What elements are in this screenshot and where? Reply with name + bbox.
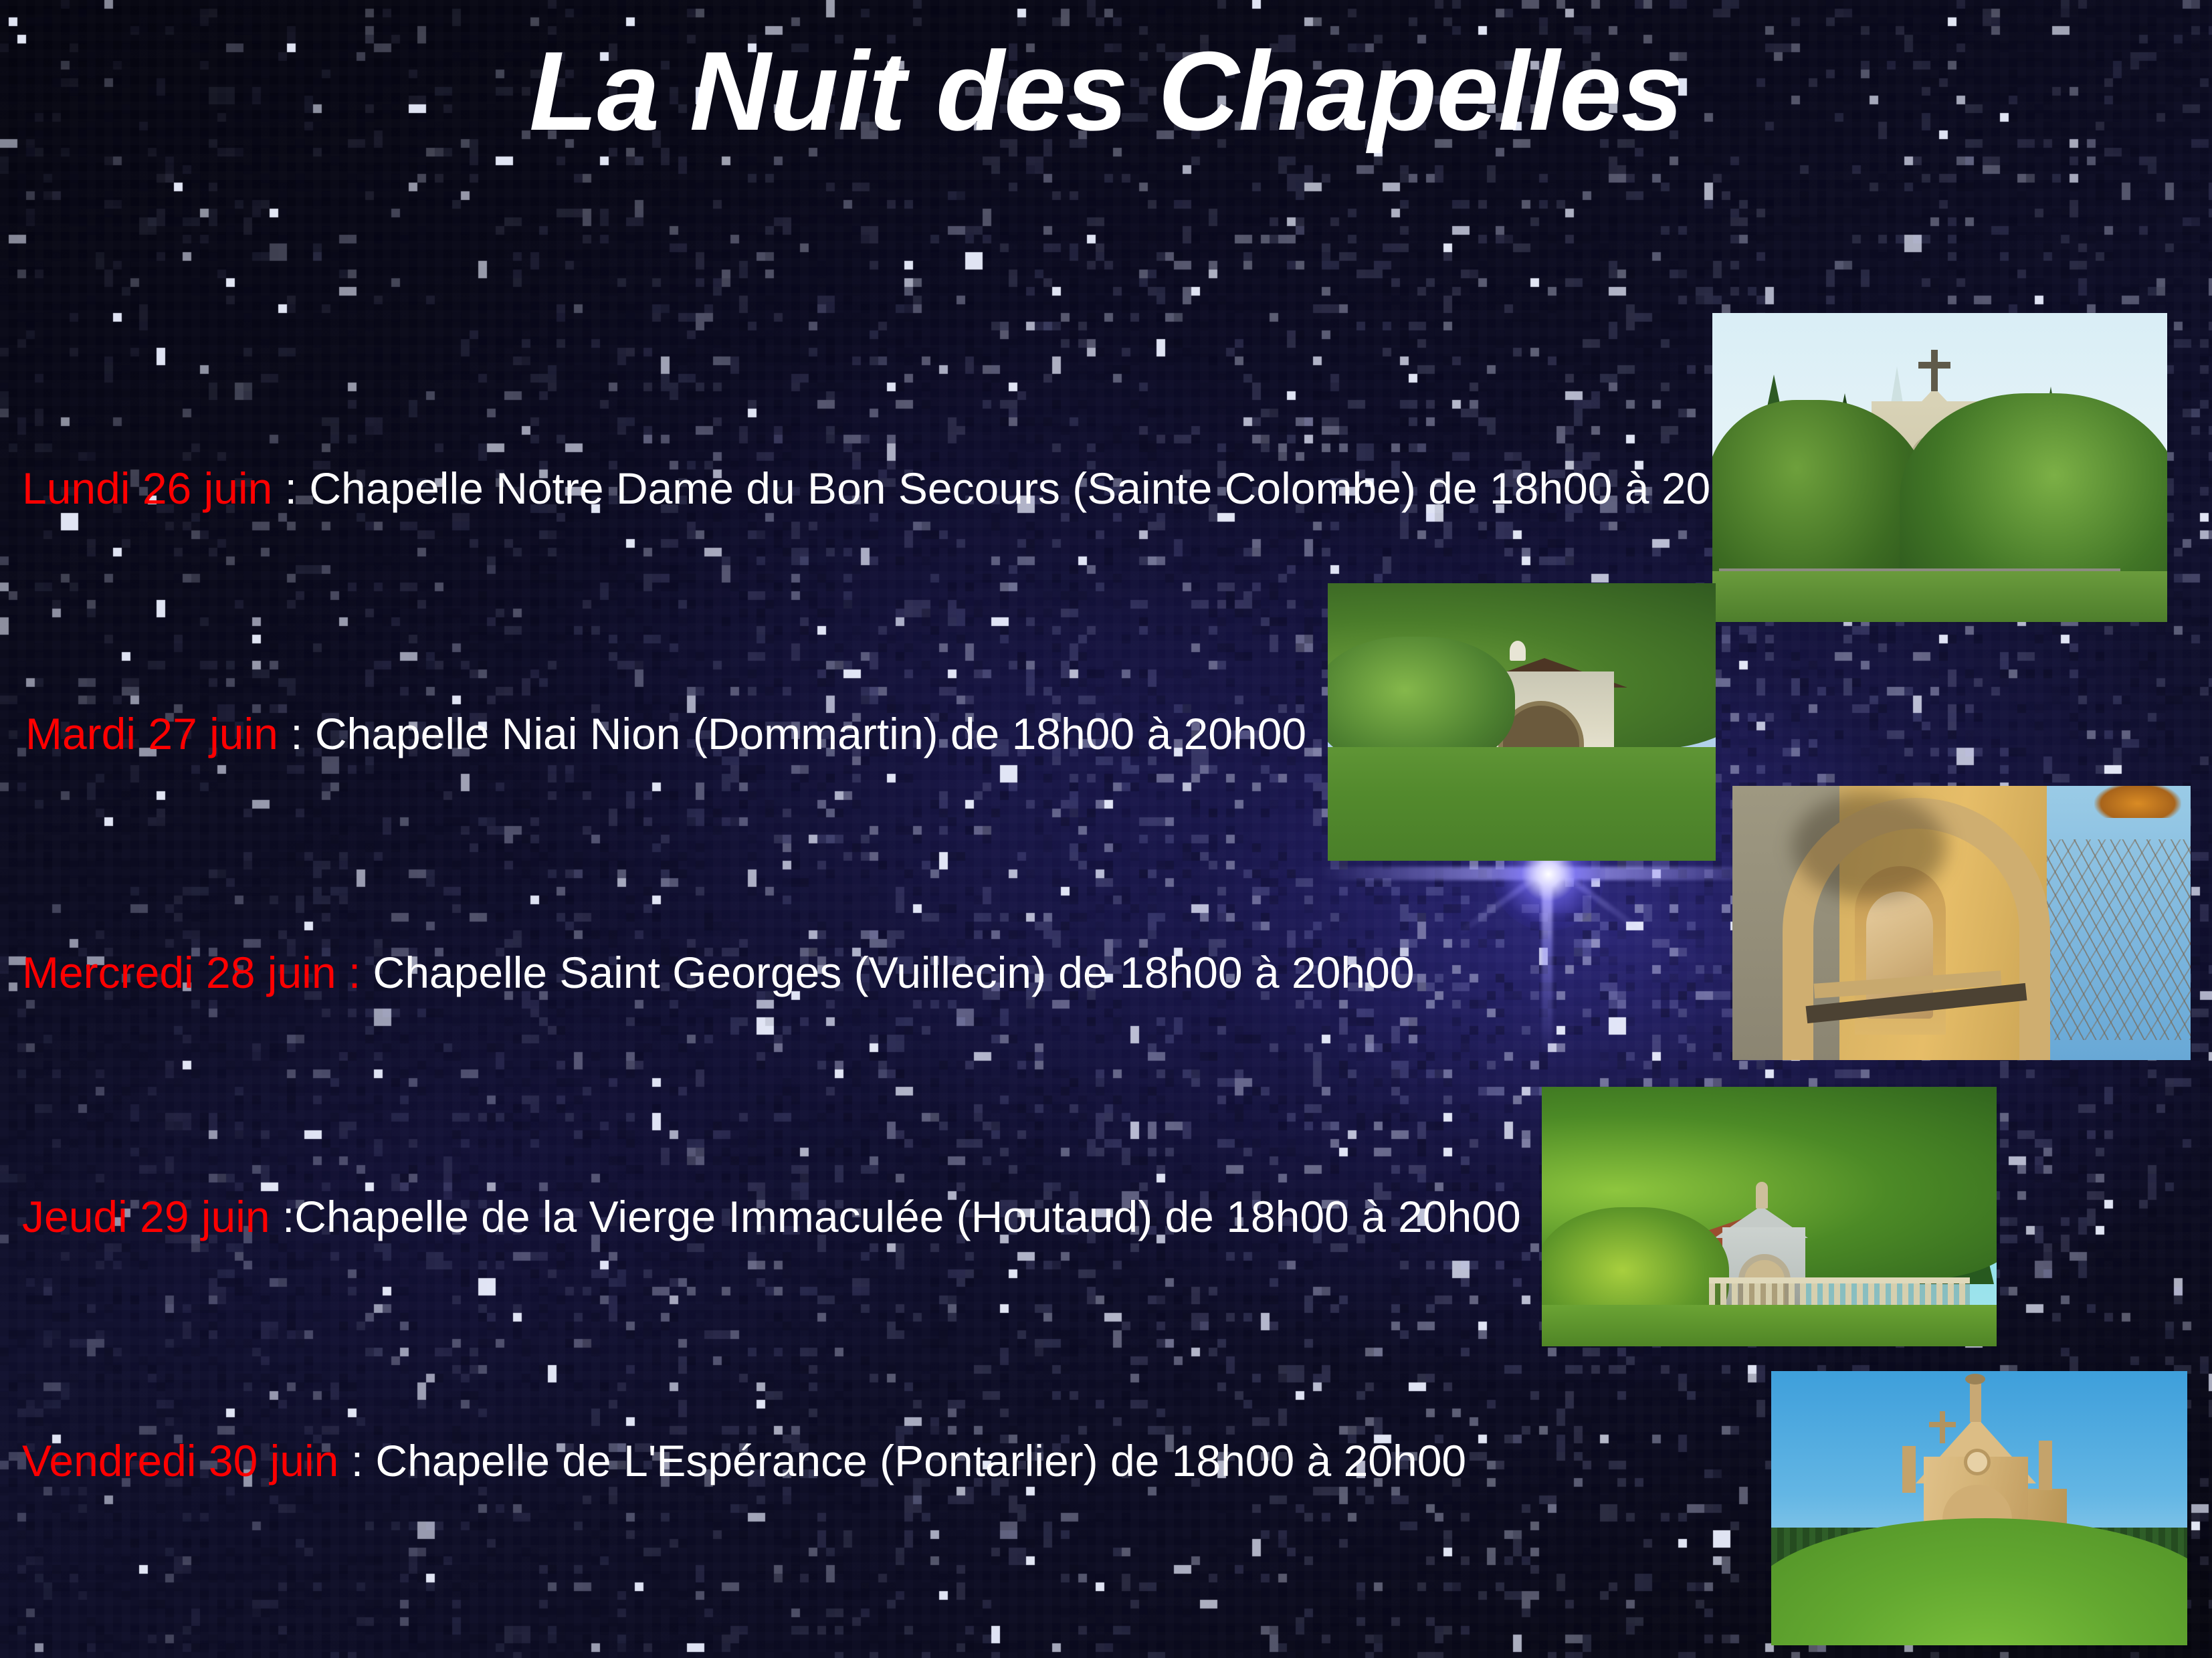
schedule-detail-label: Chapelle Saint Georges (Vuillecin) de 18…: [361, 948, 1414, 997]
schedule-detail-label: : Chapelle Notre Dame du Bon Secours (Sa…: [272, 463, 1784, 513]
list-item: Vendredi 30 juin : Chapelle de L'Espéran…: [22, 1439, 1466, 1483]
chapelle-niai-nion-photo: [1328, 583, 1716, 861]
schedule-day-label: Jeudi 29 juin: [22, 1192, 270, 1241]
schedule-day-label: Mercredi 28 juin :: [22, 948, 361, 997]
list-item: Mardi 27 juin : Chapelle Niai Nion (Domm…: [25, 712, 1306, 756]
schedule-detail-label: : Chapelle de L'Espérance (Pontarlier) d…: [338, 1436, 1466, 1485]
schedule-detail-label: : Chapelle Niai Nion (Dommartin) de 18h0…: [278, 709, 1306, 758]
list-item: Jeudi 29 juin :Chapelle de la Vierge Imm…: [22, 1195, 1521, 1239]
chapelle-notre-dame-du-bon-secours-photo: [1712, 313, 2167, 622]
schedule-detail-label: :Chapelle de la Vierge Immaculée (Houtau…: [270, 1192, 1521, 1241]
presentation-slide: La Nuit des Chapelles Lundi 26 juin : Ch…: [0, 0, 2212, 1658]
list-item: Lundi 26 juin : Chapelle Notre Dame du B…: [22, 466, 1784, 510]
chapelle-esperance-photo: [1771, 1371, 2187, 1645]
list-item: Mercredi 28 juin : Chapelle Saint George…: [22, 950, 1415, 995]
chapelle-vierge-immaculee-photo: [1542, 1087, 1997, 1346]
schedule-day-label: Lundi 26 juin: [22, 463, 272, 513]
chapelle-saint-georges-photo: [1732, 786, 2191, 1060]
schedule-day-label: Vendredi 30 juin: [22, 1436, 338, 1485]
schedule-day-label: Mardi 27 juin: [25, 709, 278, 758]
